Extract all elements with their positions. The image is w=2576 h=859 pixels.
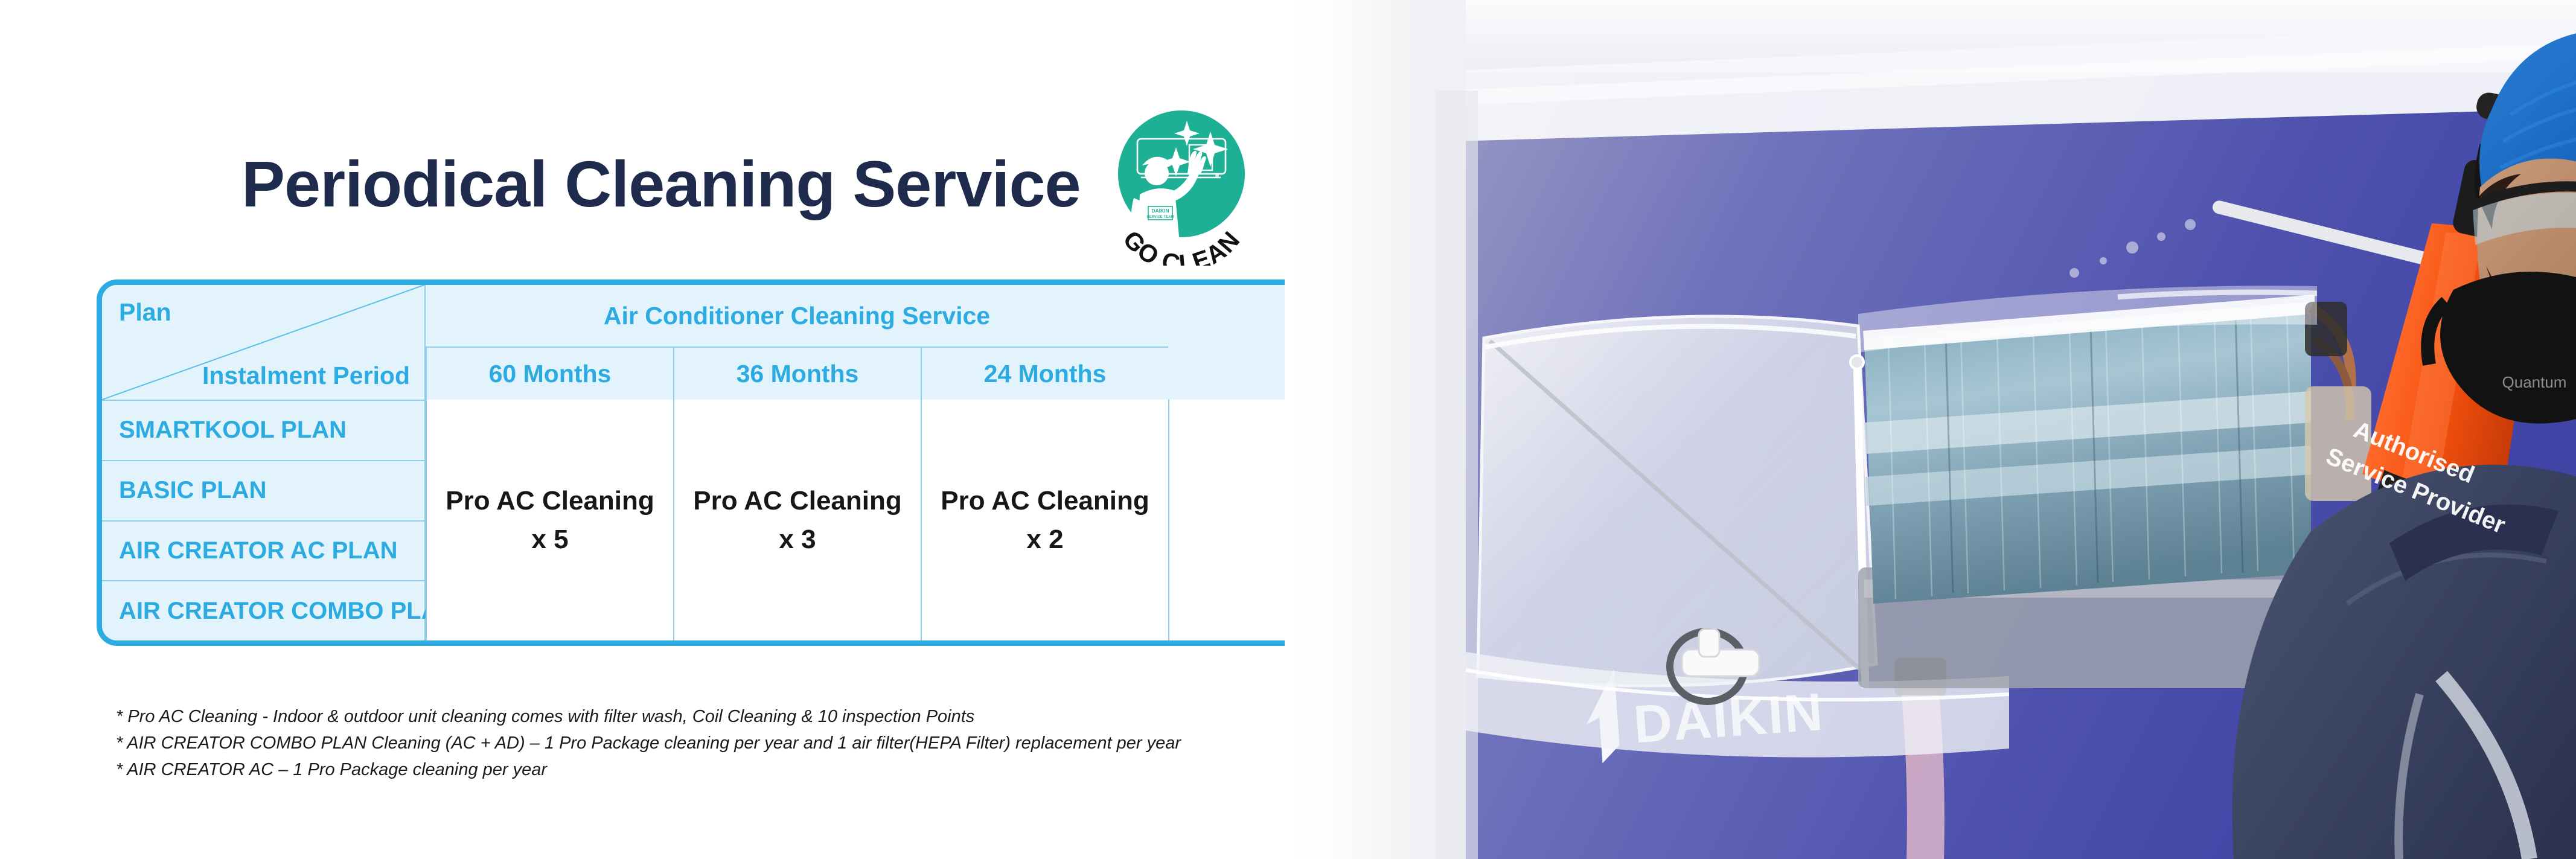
badge-uniform-team: SERVICE TEAM: [1146, 216, 1174, 219]
column-header-label: 36 Months: [737, 360, 859, 388]
plan-comparison-table: Plan Instalment Period Air Conditioner C…: [97, 279, 1343, 646]
info-panel: Periodical Cleaning Service: [0, 0, 1304, 859]
page-title: Periodical Cleaning Service: [241, 152, 1081, 217]
table-row: SMARTKOOL PLAN: [102, 400, 426, 460]
table-corner-header: Plan Instalment Period: [102, 285, 426, 400]
column-axis-label: Instalment Period: [202, 362, 410, 390]
value-quantity-label: x 3: [779, 520, 816, 559]
plan-name-smartkool: SMARTKOOL PLAN: [119, 417, 347, 444]
column-header-label: 60 Months: [489, 360, 612, 388]
value-cell-36-months: Pro AC Cleaning x 3: [673, 400, 921, 640]
technician-photo: DAIKIN: [1285, 0, 2576, 859]
mask-brand-text: Quantum: [2502, 373, 2567, 391]
go-clean-badge: DAIKIN SERVICE TEAM GO CLEAN: [1105, 103, 1259, 266]
table-row: AIR CREATOR COMBO PLAN: [102, 580, 426, 640]
value-service-label: Pro AC Cleaning: [446, 482, 654, 520]
value-cell-60-months: Pro AC Cleaning x 5: [426, 400, 673, 640]
value-service-label: Pro AC Cleaning: [693, 482, 902, 520]
plan-name-air-creator-ac: AIR CREATOR AC PLAN: [119, 537, 397, 564]
footnote-pro-ac-cleaning: * Pro AC Cleaning - Indoor & outdoor uni…: [116, 703, 1299, 730]
plan-name-air-creator-combo: AIR CREATOR COMBO PLAN: [119, 598, 456, 625]
column-header-label: 24 Months: [984, 360, 1107, 388]
badge-uniform-brand: DAIKIN: [1151, 208, 1169, 214]
column-header-24-months: 24 Months: [921, 348, 1168, 400]
value-service-label: Pro AC Cleaning: [941, 482, 1149, 520]
value-cell-24-months: Pro AC Cleaning x 2: [921, 400, 1168, 640]
title-row: Periodical Cleaning Service: [241, 103, 1259, 266]
column-header-60-months: 60 Months: [426, 348, 673, 400]
footnote-air-creator-combo: * AIR CREATOR COMBO PLAN Cleaning (AC + …: [116, 730, 1299, 756]
footnote-air-creator-ac: * AIR CREATOR AC – 1 Pro Package cleanin…: [116, 756, 1299, 783]
table-row: AIR CREATOR AC PLAN: [102, 520, 426, 581]
plan-name-basic: BASIC PLAN: [119, 477, 266, 504]
value-quantity-label: x 2: [1026, 520, 1063, 559]
table-row: BASIC PLAN: [102, 460, 426, 520]
column-header-36-months: 36 Months: [673, 348, 921, 400]
table-group-header: Air Conditioner Cleaning Service: [426, 285, 1168, 348]
row-axis-label: Plan: [119, 298, 171, 327]
footnotes: * Pro AC Cleaning - Indoor & outdoor uni…: [116, 703, 1299, 783]
value-quantity-label: x 5: [531, 520, 568, 559]
group-header-label: Air Conditioner Cleaning Service: [604, 302, 990, 330]
